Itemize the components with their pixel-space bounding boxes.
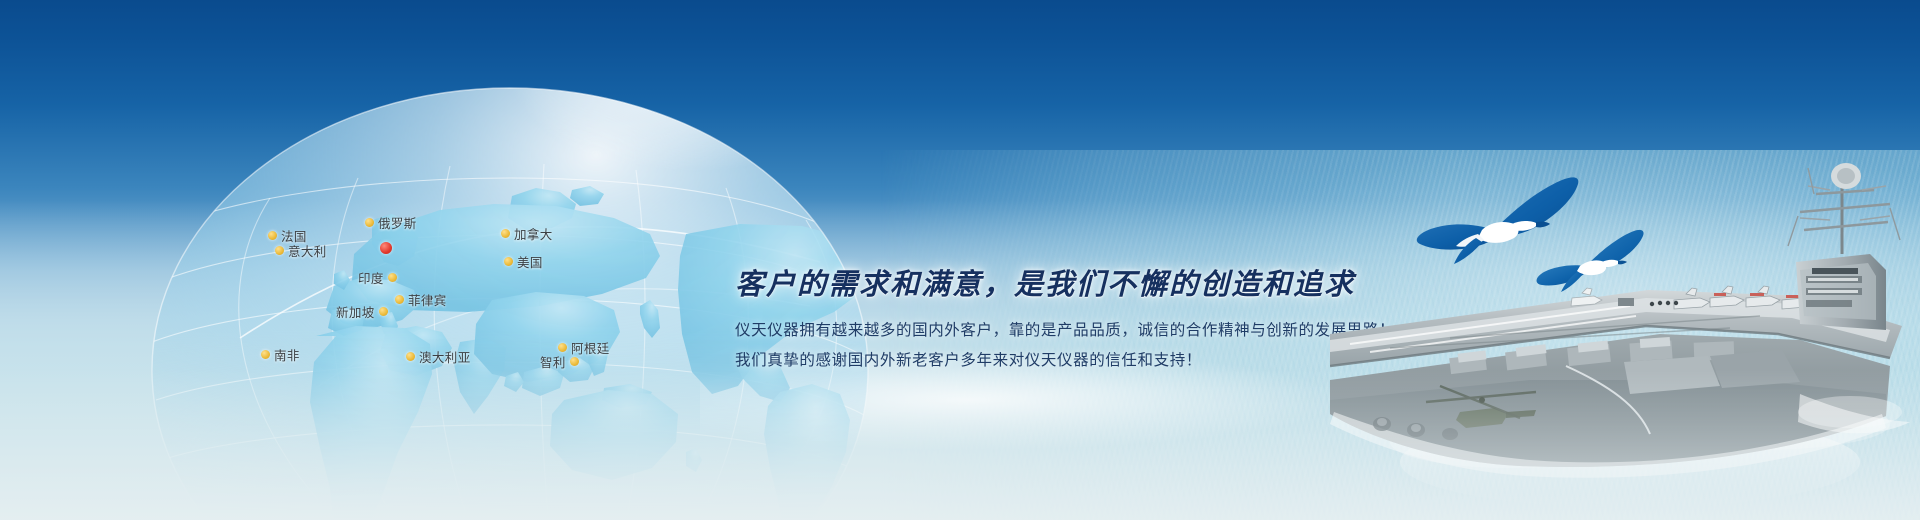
map-marker-印度[interactable]: 印度 <box>358 268 397 287</box>
marker-dot-gold-icon <box>504 257 513 266</box>
marker-dot-gold-icon <box>261 350 270 359</box>
map-marker-label: 新加坡 <box>336 302 375 321</box>
map-marker-俄罗斯[interactable]: 俄罗斯 <box>365 213 417 232</box>
marker-dot-gold-icon <box>275 246 284 255</box>
map-marker-南非[interactable]: 南非 <box>261 345 300 364</box>
subtitle-line-2: 我们真挚的感谢国内外新老客户多年来对仪天仪器的信任和支持！ <box>735 349 1395 372</box>
marker-dot-red-icon <box>380 242 392 254</box>
map-marker-label: 俄罗斯 <box>378 213 417 232</box>
marker-dot-gold-icon <box>379 307 388 316</box>
marker-dot-gold-icon <box>570 357 579 366</box>
map-marker-澳大利亚[interactable]: 澳大利亚 <box>406 347 471 366</box>
bottom-haze <box>0 370 1920 520</box>
marker-dot-gold-icon <box>365 218 374 227</box>
hero-banner: 法国意大利俄罗斯印度新加坡菲律宾南非澳大利亚加拿大美国智利阿根廷 客户的需求和满… <box>0 0 1920 520</box>
map-marker-label: 南非 <box>274 345 300 364</box>
map-marker-意大利[interactable]: 意大利 <box>275 241 327 260</box>
map-marker-label: 澳大利亚 <box>419 347 471 366</box>
map-marker-阿根廷[interactable]: 阿根廷 <box>558 338 610 357</box>
hero-copy-block: 客户的需求和满意，是我们不懈的创造和追求 仪天仪器拥有越来越多的国内外客户，靠的… <box>735 268 1395 372</box>
page-title: 客户的需求和满意，是我们不懈的创造和追求 <box>735 268 1395 303</box>
marker-dot-gold-icon <box>501 229 510 238</box>
map-marker-美国[interactable]: 美国 <box>504 252 543 271</box>
map-marker-label: 意大利 <box>288 241 327 260</box>
map-marker-菲律宾[interactable]: 菲律宾 <box>395 290 447 309</box>
map-marker-加拿大[interactable]: 加拿大 <box>501 224 553 243</box>
map-marker-label: 菲律宾 <box>408 290 447 309</box>
subtitle-line-1: 仪天仪器拥有越来越多的国内外客户，靠的是产品品质，诚信的合作精神与创新的发展思路… <box>735 319 1395 342</box>
map-marker-label: 阿根廷 <box>571 338 610 357</box>
marker-dot-gold-icon <box>388 273 397 282</box>
map-marker-label: 加拿大 <box>514 224 553 243</box>
marker-dot-gold-icon <box>406 352 415 361</box>
map-marker-新加坡[interactable]: 新加坡 <box>336 302 388 321</box>
map-marker-home[interactable] <box>380 242 392 254</box>
marker-dot-gold-icon <box>558 343 567 352</box>
map-marker-label: 印度 <box>358 268 384 287</box>
map-marker-label: 美国 <box>517 252 543 271</box>
marker-dot-gold-icon <box>268 231 277 240</box>
marker-dot-gold-icon <box>395 295 404 304</box>
